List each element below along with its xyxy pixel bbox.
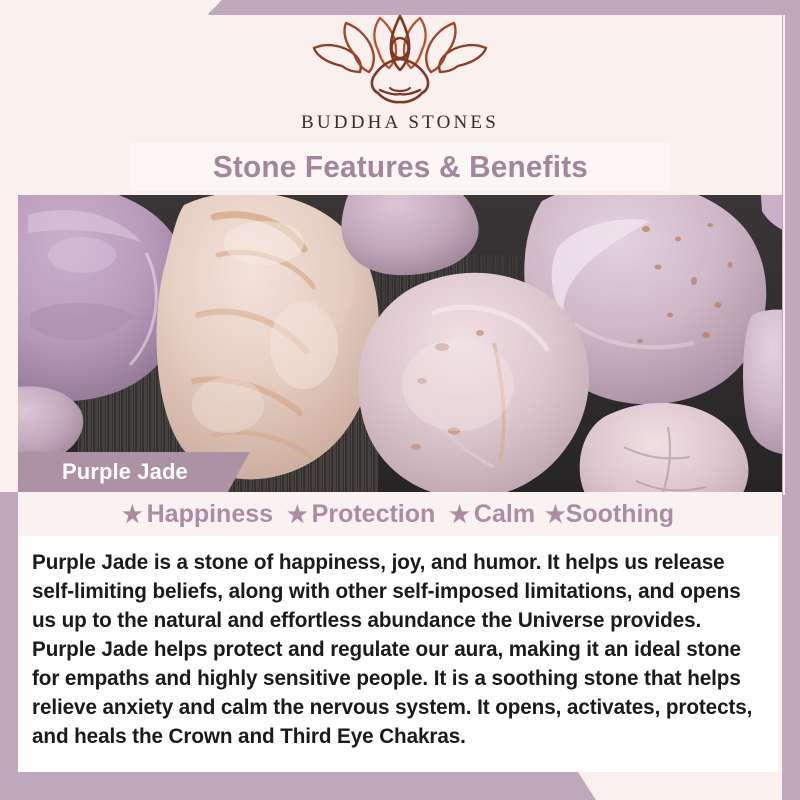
- page-title: Stone Features & Benefits: [212, 149, 587, 185]
- stone-name: Purple Jade: [62, 459, 188, 485]
- keyword-calm: ★ Calm: [449, 500, 535, 529]
- stone-name-tag: Purple Jade: [18, 452, 250, 492]
- star-icon: ★: [545, 503, 566, 526]
- keyword-label: Happiness: [147, 500, 273, 529]
- star-icon: ★: [287, 503, 308, 526]
- keyword-label: Soothing: [566, 500, 674, 529]
- keyword-protection: ★ Protection: [287, 500, 435, 529]
- page-content: BUDDHA STONES Stone Features & Benefits: [0, 0, 800, 800]
- brand-logo-block: BUDDHA STONES: [0, 14, 800, 134]
- keyword-label: Protection: [312, 500, 436, 529]
- star-icon: ★: [449, 503, 470, 526]
- lotus-meditation-icon: [310, 14, 490, 110]
- brand-name: BUDDHA STONES: [0, 112, 800, 134]
- purple-jade-photo: [18, 195, 782, 492]
- keywords-strip: ★ Happiness ★ Protection ★ Calm ★ Soothi…: [18, 492, 778, 536]
- keyword-soothing: ★ Soothing: [545, 500, 674, 529]
- star-icon: ★: [122, 503, 143, 526]
- stone-pale-bottommid: [358, 273, 589, 492]
- description-paragraph-2: Purple Jade helps protect and regulate o…: [32, 635, 753, 751]
- section-title-banner: Stone Features & Benefits: [130, 143, 670, 191]
- keyword-happiness: ★ Happiness: [122, 500, 273, 529]
- description-paragraph-1: Purple Jade is a stone of happiness, joy…: [32, 548, 753, 635]
- description-panel: ★ Happiness ★ Protection ★ Calm ★ Soothi…: [18, 492, 778, 772]
- description-text: Purple Jade is a stone of happiness, joy…: [18, 536, 778, 751]
- keyword-label: Calm: [474, 500, 535, 529]
